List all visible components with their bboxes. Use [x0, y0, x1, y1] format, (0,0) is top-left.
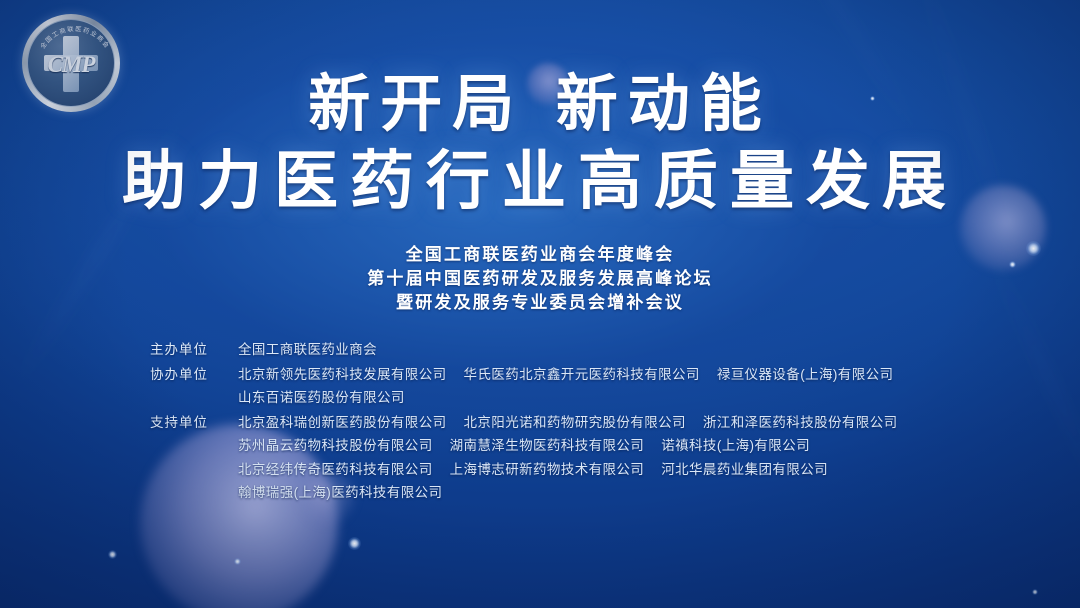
credit-values: 北京盈科瑞创新医药股份有限公司北京阳光诺和药物研究股份有限公司浙江和泽医药科技股… [238, 411, 1050, 505]
credit-line: 翰博瑞强(上海)医药科技有限公司 [238, 481, 1050, 505]
credit-values: 北京新领先医药科技发展有限公司华氏医药北京鑫开元医药科技有限公司禄亘仪器设备(上… [238, 363, 1050, 410]
sponsor-name: 翰博瑞强(上海)医药科技有限公司 [238, 485, 442, 500]
sponsor-name: 北京阳光诺和药物研究股份有限公司 [464, 415, 686, 430]
sponsor-name: 北京新领先医药科技发展有限公司 [238, 367, 447, 382]
sponsor-name: 北京经纬传奇医药科技有限公司 [238, 462, 433, 477]
page-title-line-2: 助力医药行业高质量发展 [0, 142, 1080, 222]
sponsor-name: 全国工商联医药业商会 [238, 342, 377, 357]
credit-line: 北京经纬传奇医药科技有限公司上海博志研新药物技术有限公司河北华晨药业集团有限公司 [238, 458, 1050, 482]
subtitle-line-3: 暨研发及服务专业委员会增补会议 [0, 291, 1080, 315]
sparkle-6 [1032, 589, 1038, 595]
sponsor-name: 山东百诺医药股份有限公司 [238, 390, 405, 405]
credit-line: 山东百诺医药股份有限公司 [238, 386, 1050, 410]
credit-label: 支持单位 [150, 411, 238, 435]
credit-row: 协办单位北京新领先医药科技发展有限公司华氏医药北京鑫开元医药科技有限公司禄亘仪器… [150, 363, 1050, 410]
sponsor-name: 上海博志研新药物技术有限公司 [450, 462, 645, 477]
credit-line: 苏州晶云药物科技股份有限公司湖南慧泽生物医药科技有限公司诺禛科技(上海)有限公司 [238, 434, 1050, 458]
credits-block: 主办单位全国工商联医药业商会协办单位北京新领先医药科技发展有限公司华氏医药北京鑫… [150, 338, 1050, 506]
sponsor-name: 河北华晨药业集团有限公司 [661, 462, 828, 477]
credit-label: 主办单位 [150, 338, 238, 362]
subtitle-line-2: 第十届中国医药研发及服务发展高峰论坛 [0, 267, 1080, 291]
sponsor-name: 苏州晶云药物科技股份有限公司 [238, 438, 433, 453]
credit-row: 支持单位北京盈科瑞创新医药股份有限公司北京阳光诺和药物研究股份有限公司浙江和泽医… [150, 411, 1050, 505]
conference-banner: 全国工商联医药业商会 CMP 新开局 新动能 助力医药行业高质量发展 全国工商联… [0, 0, 1080, 608]
sponsor-name: 湖南慧泽生物医药科技有限公司 [450, 438, 645, 453]
sponsor-name: 禄亘仪器设备(上海)有限公司 [717, 367, 894, 382]
subtitle-block: 全国工商联医药业商会年度峰会 第十届中国医药研发及服务发展高峰论坛 暨研发及服务… [0, 243, 1080, 315]
main-title-block: 新开局 新动能 助力医药行业高质量发展 [0, 66, 1080, 222]
credit-row: 主办单位全国工商联医药业商会 [150, 338, 1050, 362]
credit-line: 全国工商联医药业商会 [238, 338, 1050, 362]
sparkle-3 [108, 550, 117, 559]
sparkle-4 [234, 558, 241, 565]
sponsor-name: 北京盈科瑞创新医药股份有限公司 [238, 415, 447, 430]
page-title-line-1: 新开局 新动能 [0, 66, 1080, 142]
credit-values: 全国工商联医药业商会 [238, 338, 1050, 362]
credit-line: 北京盈科瑞创新医药股份有限公司北京阳光诺和药物研究股份有限公司浙江和泽医药科技股… [238, 411, 1050, 435]
sparkle-2 [348, 537, 361, 550]
sponsor-name: 诺禛科技(上海)有限公司 [661, 438, 810, 453]
credit-label: 协办单位 [150, 363, 238, 387]
credit-line: 北京新领先医药科技发展有限公司华氏医药北京鑫开元医药科技有限公司禄亘仪器设备(上… [238, 363, 1050, 387]
sponsor-name: 浙江和泽医药科技股份有限公司 [703, 415, 898, 430]
sponsor-name: 华氏医药北京鑫开元医药科技有限公司 [464, 367, 700, 382]
subtitle-line-1: 全国工商联医药业商会年度峰会 [0, 243, 1080, 267]
